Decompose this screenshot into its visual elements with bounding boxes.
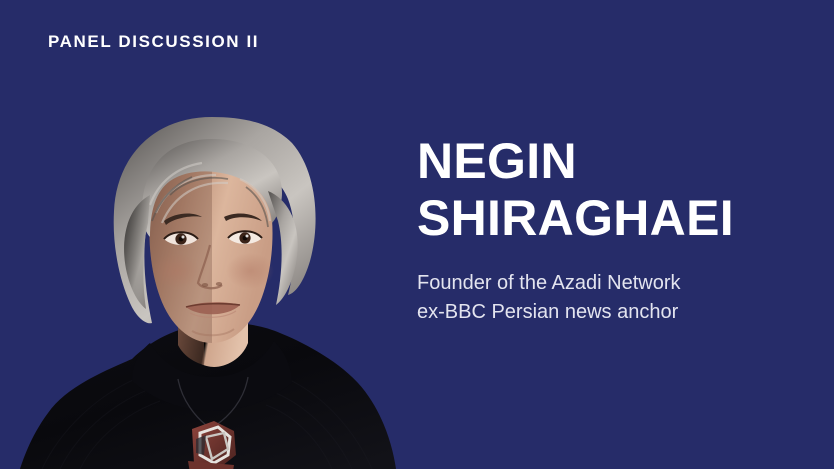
- speaker-portrait: [0, 95, 420, 469]
- portrait-illustration: [0, 95, 420, 469]
- speaker-info: NEGIN SHIRAGHAEI Founder of the Azadi Ne…: [417, 133, 817, 326]
- speaker-title-line-2: ex-BBC Persian news anchor: [417, 298, 817, 327]
- speaker-slide: PANEL DISCUSSION II: [0, 0, 834, 469]
- panel-label: PANEL DISCUSSION II: [48, 33, 259, 52]
- speaker-title-line-1: Founder of the Azadi Network: [417, 269, 817, 298]
- speaker-name-line-1: NEGIN: [417, 133, 817, 190]
- speaker-name-line-2: SHIRAGHAEI: [417, 190, 817, 247]
- speaker-title: Founder of the Azadi Network ex-BBC Pers…: [417, 269, 817, 326]
